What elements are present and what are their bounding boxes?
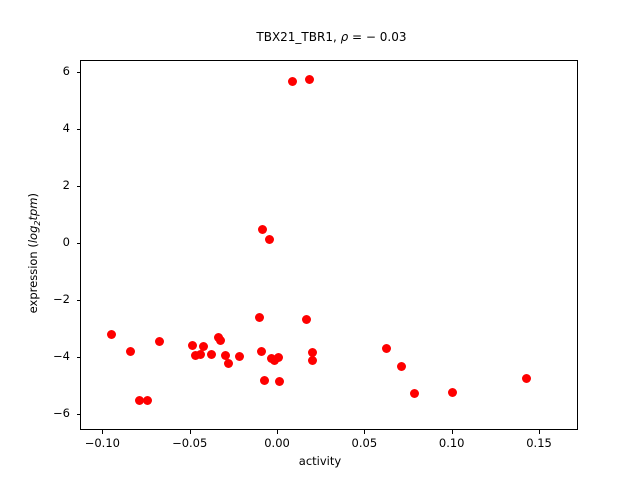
scatter-point	[224, 359, 233, 368]
y-tick-mark	[77, 72, 81, 73]
scatter-point	[308, 356, 317, 365]
scatter-point	[265, 235, 274, 244]
y-tick-mark	[77, 357, 81, 358]
x-axis-label: activity	[0, 454, 640, 468]
x-tick-label: 0.10	[417, 436, 487, 450]
scatter-point	[522, 374, 531, 383]
x-tick-mark	[102, 430, 103, 434]
y-tick-mark	[77, 300, 81, 301]
y-tick-label: 6	[0, 64, 70, 78]
x-tick-mark	[364, 430, 365, 434]
scatter-point	[302, 315, 311, 324]
scatter-point	[143, 396, 152, 405]
chart-title-line1-prefix: TBX21_TBR1,	[256, 30, 340, 44]
scatter-point	[107, 330, 116, 339]
scatter-point	[382, 344, 391, 353]
chart-title-line1: TBX21_TBR1, ρ = − 0.03	[0, 12, 640, 63]
scatter-point	[188, 341, 197, 350]
chart-title-line1-suffix: = − 0.03	[348, 30, 406, 44]
scatter-point	[448, 388, 457, 397]
scatter-point	[199, 342, 208, 351]
y-tick-mark	[77, 243, 81, 244]
scatter-point	[207, 350, 216, 359]
plot-area	[80, 60, 578, 430]
y-tick-mark	[77, 186, 81, 187]
scatter-point	[235, 352, 244, 361]
x-tick-mark	[190, 430, 191, 434]
y-axis-label-prefix: expression (	[26, 243, 40, 313]
x-tick-label: −0.10	[67, 436, 137, 450]
x-tick-label: 0.05	[329, 436, 399, 450]
scatter-point	[305, 75, 314, 84]
scatter-point	[257, 347, 266, 356]
y-tick-mark	[77, 129, 81, 130]
scatter-point	[255, 313, 264, 322]
scatter-point	[216, 336, 225, 345]
x-tick-label: 0.15	[504, 436, 574, 450]
matplotlib-figure: TBX21_TBR1, ρ = − 0.03 hg19_v2_chr2_+_16…	[0, 0, 640, 480]
y-tick-mark	[77, 414, 81, 415]
x-tick-label: 0.00	[242, 436, 312, 450]
scatter-point	[397, 362, 406, 371]
scatter-point	[196, 350, 205, 359]
x-tick-mark	[452, 430, 453, 434]
x-tick-label: −0.05	[155, 436, 225, 450]
scatter-point	[155, 337, 164, 346]
scatter-point	[258, 225, 267, 234]
scatter-point	[274, 353, 283, 362]
scatter-point	[260, 376, 269, 385]
scatter-point	[410, 389, 419, 398]
y-axis-label-math: log2tpm	[26, 197, 40, 243]
y-axis-label: expression (log2tpm)	[26, 133, 42, 373]
scatter-point	[126, 347, 135, 356]
x-tick-mark	[539, 430, 540, 434]
scatter-point	[275, 377, 284, 386]
y-tick-label: −6	[0, 406, 70, 420]
x-tick-mark	[277, 430, 278, 434]
scatter-points-layer	[81, 61, 577, 429]
scatter-point	[288, 77, 297, 86]
y-axis-label-suffix: )	[26, 193, 40, 198]
